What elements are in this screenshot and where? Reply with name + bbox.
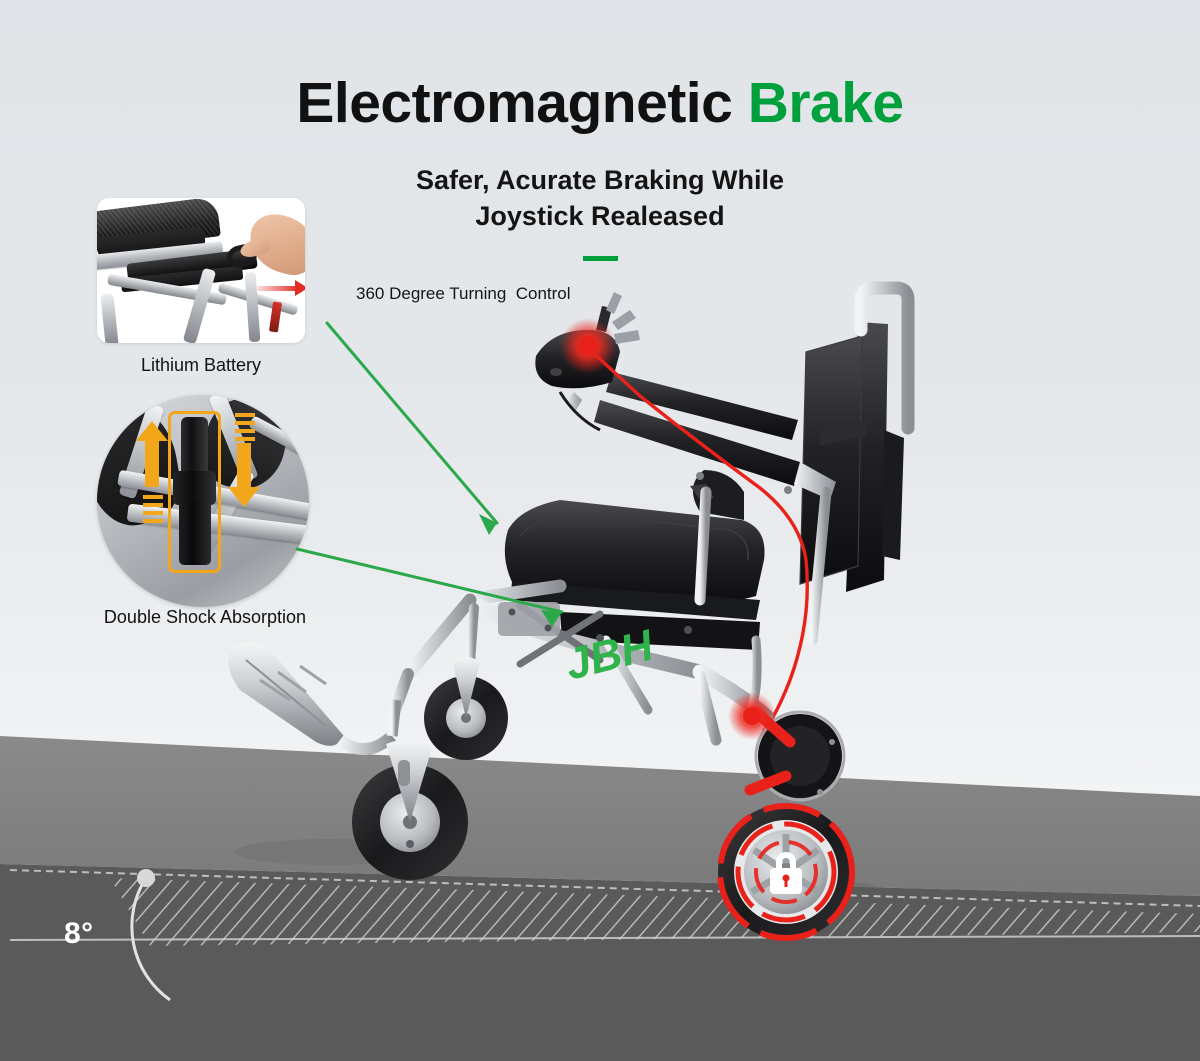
- incline-ramp: [0, 700, 1200, 1061]
- backrest-cushion: [800, 336, 862, 584]
- seat-group: [505, 500, 765, 650]
- push-handle-group: [861, 288, 908, 428]
- brake-signal-line: [588, 348, 807, 730]
- pull-direction-arrow-icon: [257, 286, 299, 291]
- callout-caption-double-shock-absorption: Double Shock Absorption: [45, 607, 365, 628]
- backrest-outer-panel: [846, 322, 888, 592]
- under-seat-box: [560, 612, 760, 650]
- joystick-lever: [596, 306, 612, 332]
- motion-tick: [235, 421, 255, 425]
- footplate-tread: [278, 672, 306, 692]
- armrest-screw: [784, 486, 792, 494]
- leader-arrowhead-double-shock: [541, 610, 562, 627]
- armrest-pivot: [690, 484, 714, 500]
- title-divider: [583, 256, 618, 261]
- angle-vertex-dot: [137, 869, 155, 887]
- footplate-tread: [300, 666, 326, 684]
- page-subtitle-line1: Safer, Acurate Braking While: [0, 163, 1200, 199]
- frame-plate: [498, 602, 560, 636]
- joystick-button: [550, 368, 562, 376]
- motion-tick: [143, 511, 163, 515]
- callout-card-lithium-battery: [97, 198, 305, 343]
- product-promo-stage: Electromagnetic Brake Safer, Acurate Bra…: [0, 0, 1200, 1061]
- arrow-down-icon: [237, 443, 251, 489]
- armrest-group: [594, 372, 836, 520]
- leader-arrowhead-lithium-battery: [479, 514, 497, 535]
- joystick-fin: [612, 310, 636, 330]
- frame-front-rail: [466, 586, 560, 600]
- armrest-pad-upper: [606, 372, 798, 440]
- joystick-release-marker: [560, 318, 616, 374]
- frame-seat-post: [700, 492, 706, 600]
- shock-absorber-highlight-outline: [168, 411, 221, 573]
- page-title-main: Electromagnetic: [296, 71, 732, 135]
- frame-lower-rail: [468, 600, 700, 672]
- page-title: Electromagnetic Brake: [0, 74, 1200, 134]
- seat-cushion: [505, 500, 765, 607]
- frame-bolt: [509, 609, 516, 616]
- leader-line-lithium-battery: [327, 323, 497, 523]
- joystick-fin: [614, 330, 640, 344]
- frame-bolt: [684, 626, 692, 634]
- joystick-housing: [535, 330, 620, 388]
- motion-tick: [143, 519, 163, 523]
- frame-back-post: [812, 492, 826, 640]
- footplate-tread: [260, 680, 290, 700]
- motion-tick: [235, 437, 255, 441]
- motion-tick: [143, 495, 163, 499]
- motion-tick: [235, 429, 255, 433]
- callout-circle-double-shock-absorption: [97, 395, 309, 607]
- armrest-bracket: [693, 470, 744, 520]
- backrest-strap: [820, 420, 866, 446]
- joystick-mount: [566, 392, 582, 410]
- armrest-pad-lower: [594, 400, 800, 486]
- armrest-rear-tube: [794, 462, 836, 500]
- wheel-shadow: [235, 839, 425, 865]
- callout-caption-lithium-battery: Lithium Battery: [60, 355, 342, 376]
- joystick-cable: [560, 392, 600, 430]
- armrest-screw: [696, 472, 704, 480]
- seat-base-panel: [510, 582, 760, 620]
- frame-tube-shape: [100, 293, 118, 343]
- frame-tube-shape: [245, 272, 261, 343]
- folding-scissor-arm: [520, 614, 600, 664]
- frame-bolt: [545, 625, 552, 632]
- folding-scissor-arm: [520, 606, 600, 660]
- joystick-release-dot: [578, 336, 598, 356]
- incline-angle-label: 8°: [64, 917, 94, 951]
- lithium-battery-photo: [97, 198, 305, 343]
- backrest-group: [800, 322, 904, 592]
- leader-line-double-shock: [297, 549, 562, 612]
- joystick-fin: [606, 292, 622, 314]
- push-handle-bar: [861, 288, 908, 428]
- frame-mid-strut: [468, 608, 474, 690]
- page-title-accent: Brake: [748, 71, 904, 135]
- frame-bolt: [596, 634, 604, 642]
- backrest-seam: [800, 336, 862, 584]
- joystick-group: [535, 292, 640, 430]
- annotation-360-turning: 360 Degree Turning Control: [356, 284, 571, 304]
- arrow-up-icon: [145, 439, 159, 487]
- seat-cushion-seam: [520, 512, 748, 560]
- motion-tick: [235, 413, 255, 417]
- frame-front-fork-tube: [408, 600, 470, 674]
- brand-logo-jbh: JBH: [561, 621, 659, 690]
- backrest-side-flap: [882, 430, 904, 560]
- motion-tick: [143, 503, 163, 507]
